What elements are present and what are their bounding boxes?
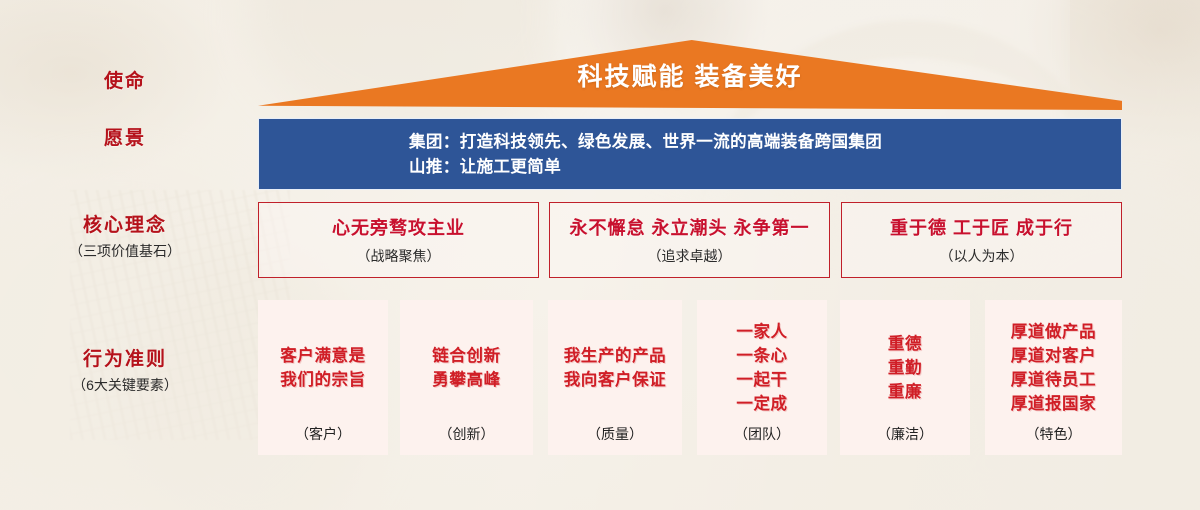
conduct-card-tag: （质量）: [587, 425, 643, 443]
rail-label-core-concept: 核心理念 （三项价值基石）: [0, 214, 250, 261]
conduct-card-line: 客户满意是: [262, 344, 384, 368]
conduct-card[interactable]: 重德 重勤 重廉 （廉洁）: [840, 300, 970, 455]
conduct-card[interactable]: 链合创新 勇攀高峰 （创新）: [400, 300, 533, 455]
core-concept-title: 永不懈怠 永立潮头 永争第一: [550, 217, 829, 239]
conduct-card-line: 我们的宗旨: [262, 368, 384, 392]
conduct-card[interactable]: 客户满意是 我们的宗旨 （客户）: [258, 300, 388, 455]
rail-conduct-subtitle: （6大关键要素）: [0, 375, 250, 395]
mission-roof-banner: 科技赋能 装备美好: [258, 40, 1122, 110]
vision-band: 集团：打造科技领先、绿色发展、世界一流的高端装备跨国集团 山推：让施工更简单: [258, 118, 1122, 190]
conduct-card-line: 重德: [844, 332, 966, 356]
core-concept-subtitle: （战略聚焦）: [259, 246, 538, 266]
conduct-card-line: 一定成: [701, 392, 823, 416]
core-concept-subtitle: （以人为本）: [842, 246, 1121, 266]
core-concept-box[interactable]: 重于德 工于匠 成于行 （以人为本）: [841, 202, 1122, 278]
rail-conduct-title: 行为准则: [0, 348, 250, 372]
conduct-card-tag: （特色）: [1026, 425, 1082, 443]
conduct-card-line: 重廉: [844, 380, 966, 404]
rail-label-vision: 愿景: [0, 127, 250, 151]
core-concept-box[interactable]: 心无旁骛攻主业 （战略聚焦）: [258, 202, 539, 278]
conduct-card[interactable]: 我生产的产品 我向客户保证 （质量）: [548, 300, 682, 455]
conduct-card-row: 客户满意是 我们的宗旨 （客户） 链合创新 勇攀高峰 （创新） 我生产的产品 我…: [258, 300, 1122, 455]
conduct-card-tag: （客户）: [295, 425, 351, 443]
conduct-card-lines: 链合创新 勇攀高峰: [404, 310, 529, 425]
conduct-card-line: 勇攀高峰: [404, 368, 529, 392]
conduct-card[interactable]: 一家人 一条心 一起干 一定成 （团队）: [697, 300, 827, 455]
rail-label-conduct: 行为准则 （6大关键要素）: [0, 348, 250, 395]
vision-line-company: 山推：让施工更简单: [409, 155, 882, 180]
vision-text-block: 集团：打造科技领先、绿色发展、世界一流的高端装备跨国集团 山推：让施工更简单: [409, 130, 882, 180]
vision-line-group: 集团：打造科技领先、绿色发展、世界一流的高端装备跨国集团: [409, 130, 882, 155]
rail-core-subtitle: （三项价值基石）: [0, 241, 250, 261]
conduct-card-line: 重勤: [844, 356, 966, 380]
conduct-card-line: 厚道报国家: [989, 392, 1118, 416]
core-concept-subtitle: （追求卓越）: [550, 246, 829, 266]
conduct-card-line: 链合创新: [404, 344, 529, 368]
rail-core-title: 核心理念: [0, 214, 250, 238]
conduct-card-line: 一条心: [701, 344, 823, 368]
conduct-card[interactable]: 厚道做产品 厚道对客户 厚道待员工 厚道报国家 （特色）: [985, 300, 1122, 455]
rail-mission-title: 使命: [0, 70, 250, 94]
conduct-card-tag: （廉洁）: [877, 425, 933, 443]
core-concept-title: 重于德 工于匠 成于行: [842, 217, 1121, 239]
conduct-card-tag: （团队）: [734, 425, 790, 443]
core-concept-box[interactable]: 永不懈怠 永立潮头 永争第一 （追求卓越）: [549, 202, 830, 278]
mission-statement: 科技赋能 装备美好: [258, 62, 1122, 92]
rail-label-mission: 使命: [0, 70, 250, 94]
core-concept-row: 心无旁骛攻主业 （战略聚焦） 永不懈怠 永立潮头 永争第一 （追求卓越） 重于德…: [258, 202, 1122, 278]
conduct-card-line: 厚道待员工: [989, 368, 1118, 392]
conduct-card-line: 厚道对客户: [989, 344, 1118, 368]
culture-diagram: 使命 愿景 核心理念 （三项价值基石） 行为准则 （6大关键要素） 科技赋能 装…: [0, 0, 1200, 510]
core-concept-title: 心无旁骛攻主业: [259, 217, 538, 239]
rail-vision-title: 愿景: [0, 127, 250, 151]
conduct-card-lines: 一家人 一条心 一起干 一定成: [701, 310, 823, 425]
conduct-card-line: 我生产的产品: [552, 344, 678, 368]
conduct-card-lines: 厚道做产品 厚道对客户 厚道待员工 厚道报国家: [989, 310, 1118, 425]
conduct-card-lines: 客户满意是 我们的宗旨: [262, 310, 384, 425]
conduct-card-tag: （创新）: [439, 425, 495, 443]
conduct-card-line: 我向客户保证: [552, 368, 678, 392]
conduct-card-line: 厚道做产品: [989, 320, 1118, 344]
conduct-card-lines: 重德 重勤 重廉: [844, 310, 966, 425]
conduct-card-line: 一起干: [701, 368, 823, 392]
conduct-card-lines: 我生产的产品 我向客户保证: [552, 310, 678, 425]
conduct-card-line: 一家人: [701, 320, 823, 344]
